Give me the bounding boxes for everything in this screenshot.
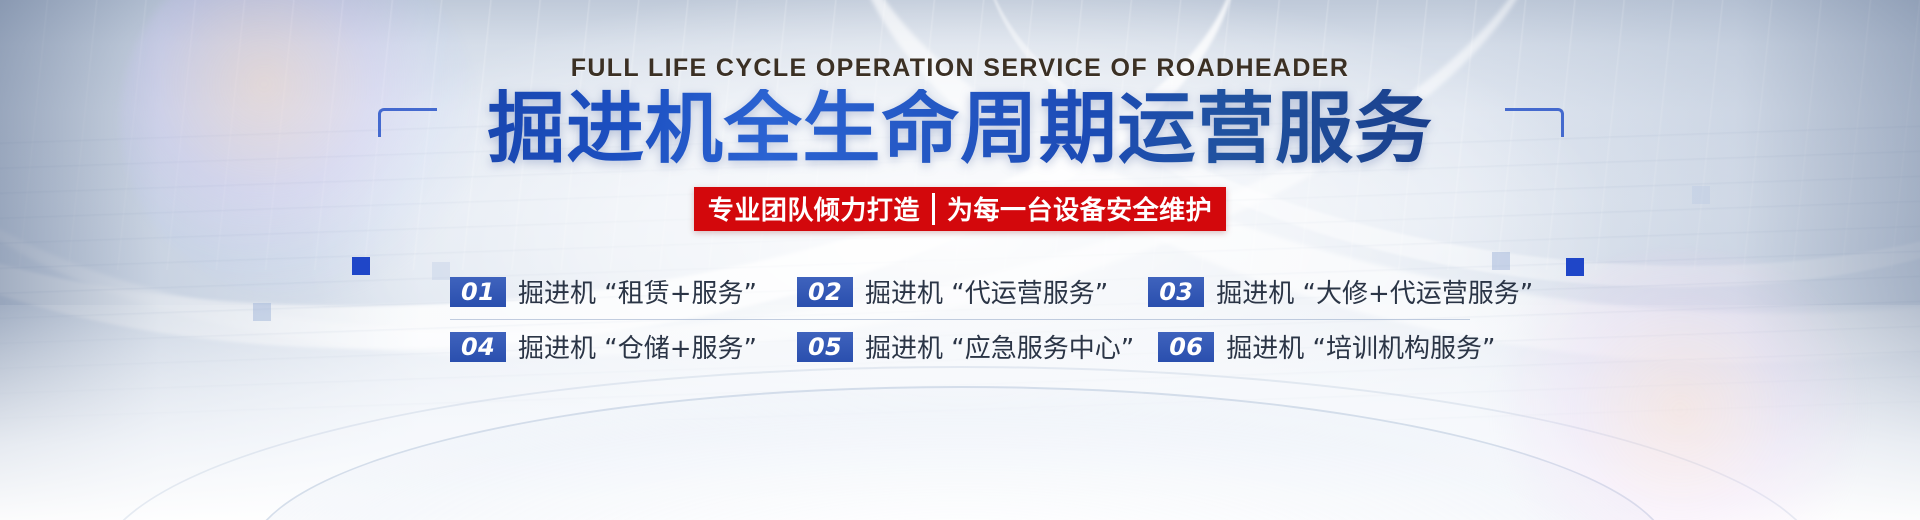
service-label-05: 掘进机 “应急服务中心” bbox=[865, 328, 1134, 365]
service-row-1: 01 掘进机 “租赁+服务” 02 掘进机 “代运营服务” 03 掘进机 “大修… bbox=[450, 265, 1470, 320]
service-number-01: 01 bbox=[450, 277, 506, 307]
service-item-06[interactable]: 06 掘进机 “培训机构服务” bbox=[1158, 328, 1495, 365]
service-item-03[interactable]: 03 掘进机 “大修+代运营服务” bbox=[1148, 273, 1533, 310]
service-item-02[interactable]: 02 掘进机 “代运营服务” bbox=[797, 273, 1108, 310]
service-label-04: 掘进机 “仓储+服务” bbox=[518, 328, 757, 365]
service-list: 01 掘进机 “租赁+服务” 02 掘进机 “代运营服务” 03 掘进机 “大修… bbox=[450, 265, 1470, 374]
banner-eyebrow-english: FULL LIFE CYCLE OPERATION SERVICE OF ROA… bbox=[571, 54, 1350, 83]
service-number-04: 04 bbox=[450, 332, 506, 362]
tagline-right-text: 为每一台设备安全维护 bbox=[935, 189, 1224, 229]
tagline-left-text: 专业团队倾力打造 bbox=[696, 189, 932, 229]
service-item-04[interactable]: 04 掘进机 “仓储+服务” bbox=[450, 328, 757, 365]
service-item-05[interactable]: 05 掘进机 “应急服务中心” bbox=[797, 328, 1134, 365]
service-row-2: 04 掘进机 “仓储+服务” 05 掘进机 “应急服务中心” 06 掘进机 “培… bbox=[450, 320, 1470, 374]
service-number-05: 05 bbox=[797, 332, 853, 362]
service-number-02: 02 bbox=[797, 277, 853, 307]
service-label-03: 掘进机 “大修+代运营服务” bbox=[1216, 273, 1533, 310]
service-label-06: 掘进机 “培训机构服务” bbox=[1226, 328, 1495, 365]
service-number-03: 03 bbox=[1148, 277, 1204, 307]
service-number-06: 06 bbox=[1158, 332, 1214, 362]
service-label-01: 掘进机 “租赁+服务” bbox=[518, 273, 757, 310]
banner-content: FULL LIFE CYCLE OPERATION SERVICE OF ROA… bbox=[0, 0, 1920, 520]
tagline-banner: 专业团队倾力打造 为每一台设备安全维护 bbox=[694, 187, 1226, 231]
service-label-02: 掘进机 “代运营服务” bbox=[865, 273, 1108, 310]
banner-headline: 掘进机全生命周期运营服务 bbox=[487, 89, 1432, 171]
roadheader-service-banner: FULL LIFE CYCLE OPERATION SERVICE OF ROA… bbox=[0, 0, 1920, 520]
service-item-01[interactable]: 01 掘进机 “租赁+服务” bbox=[450, 273, 757, 310]
